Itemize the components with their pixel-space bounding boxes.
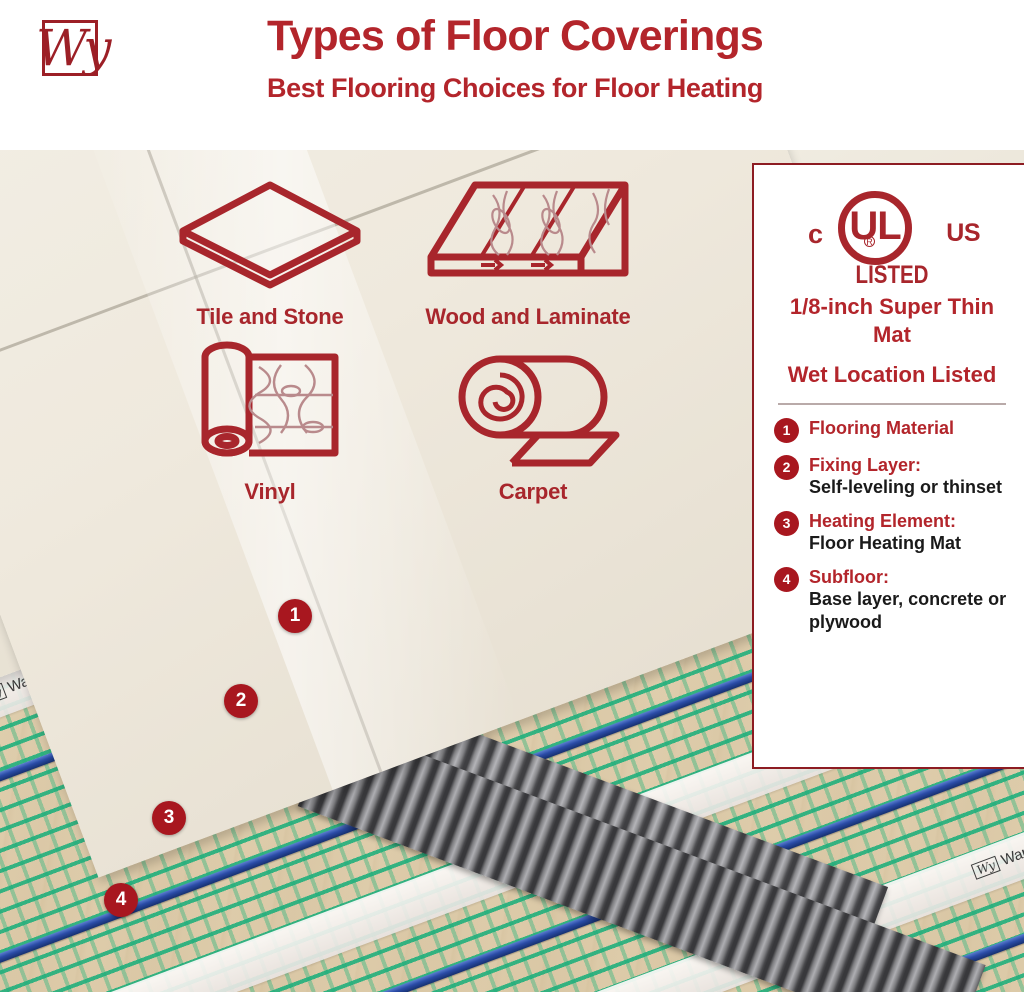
card-heading-wet-location: Wet Location Listed bbox=[774, 361, 1010, 389]
flooring-type-label: Carpet bbox=[408, 479, 658, 505]
logo-monogram: Wy bbox=[36, 8, 108, 94]
legend-number-badge: 3 bbox=[774, 511, 799, 536]
flooring-type-wood-and-laminate: Wood and Laminate bbox=[378, 175, 678, 330]
legend-description: Self-leveling or thinset bbox=[809, 476, 1010, 499]
legend-title: Subfloor: bbox=[809, 566, 1010, 588]
carpet-roll-icon bbox=[438, 345, 628, 470]
flooring-type-vinyl: Vinyl bbox=[150, 335, 390, 505]
legend-number-badge: 4 bbox=[774, 567, 799, 592]
legend-item-heating-element: 3 Heating Element: Floor Heating Mat bbox=[774, 510, 1010, 555]
photo-callout-badge-3: 3 bbox=[152, 801, 186, 835]
legend-item-flooring-material: 1 Flooring Material bbox=[774, 417, 1010, 443]
legend-title: Heating Element: bbox=[809, 510, 1010, 532]
legend-title: Fixing Layer: bbox=[809, 454, 1010, 476]
tile-slab-icon bbox=[175, 175, 365, 295]
legend-title: Flooring Material bbox=[809, 417, 1010, 439]
photo-callout-badge-1: 1 bbox=[278, 599, 312, 633]
legend-number-badge: 1 bbox=[774, 418, 799, 443]
legend-text: Fixing Layer: Self-leveling or thinset bbox=[809, 454, 1010, 499]
warmlyyours-logo: Wy bbox=[36, 12, 108, 84]
page-subtitle: Best Flooring Choices for Floor Heating bbox=[120, 68, 910, 108]
card-divider bbox=[778, 403, 1006, 405]
wood-planks-icon bbox=[423, 175, 633, 295]
photo-callout-badge-4: 4 bbox=[104, 883, 138, 917]
vinyl-roll-icon bbox=[195, 335, 345, 470]
infographic-poster: WyWarmlyYours WyWarmlyYours WyWarmlyYour… bbox=[0, 0, 1024, 992]
flooring-type-carpet: Carpet bbox=[408, 345, 658, 505]
ul-letters: UL bbox=[838, 191, 912, 265]
ul-suffix-us: US bbox=[946, 219, 980, 248]
title-block: Types of Floor Coverings Best Flooring C… bbox=[120, 8, 910, 108]
ul-listed-mark-icon: c UL R US LISTED bbox=[802, 191, 982, 283]
flooring-type-label: Tile and Stone bbox=[140, 304, 400, 330]
legend-text: Heating Element: Floor Heating Mat bbox=[809, 510, 1010, 555]
ul-prefix-c: c bbox=[808, 219, 823, 250]
flooring-type-label: Vinyl bbox=[150, 479, 390, 505]
flooring-type-label: Wood and Laminate bbox=[378, 304, 678, 330]
info-card: c UL R US LISTED 1/8-inch Super Thin Mat… bbox=[752, 163, 1024, 769]
legend-number-badge: 2 bbox=[774, 455, 799, 480]
legend-text: Flooring Material bbox=[809, 417, 1010, 439]
wy-glyph-icon: Wy bbox=[971, 856, 1001, 880]
flooring-type-tile-and-stone: Tile and Stone bbox=[140, 175, 400, 330]
page-title: Types of Floor Coverings bbox=[120, 8, 910, 64]
poster-header: Wy Types of Floor Coverings Best Floorin… bbox=[0, 0, 1024, 150]
card-heading-thin-mat: 1/8-inch Super Thin Mat bbox=[774, 293, 1010, 349]
legend-item-fixing-layer: 2 Fixing Layer: Self-leveling or thinset bbox=[774, 454, 1010, 499]
legend-text: Subfloor: Base layer, concrete or plywoo… bbox=[809, 566, 1010, 634]
registered-trademark-icon: R bbox=[864, 236, 875, 247]
legend-description: Floor Heating Mat bbox=[809, 532, 1010, 555]
ul-listed-word: LISTED bbox=[818, 261, 966, 290]
legend-item-subfloor: 4 Subfloor: Base layer, concrete or plyw… bbox=[774, 566, 1010, 634]
legend-description: Base layer, concrete or plywood bbox=[809, 588, 1010, 634]
photo-callout-badge-2: 2 bbox=[224, 684, 258, 718]
